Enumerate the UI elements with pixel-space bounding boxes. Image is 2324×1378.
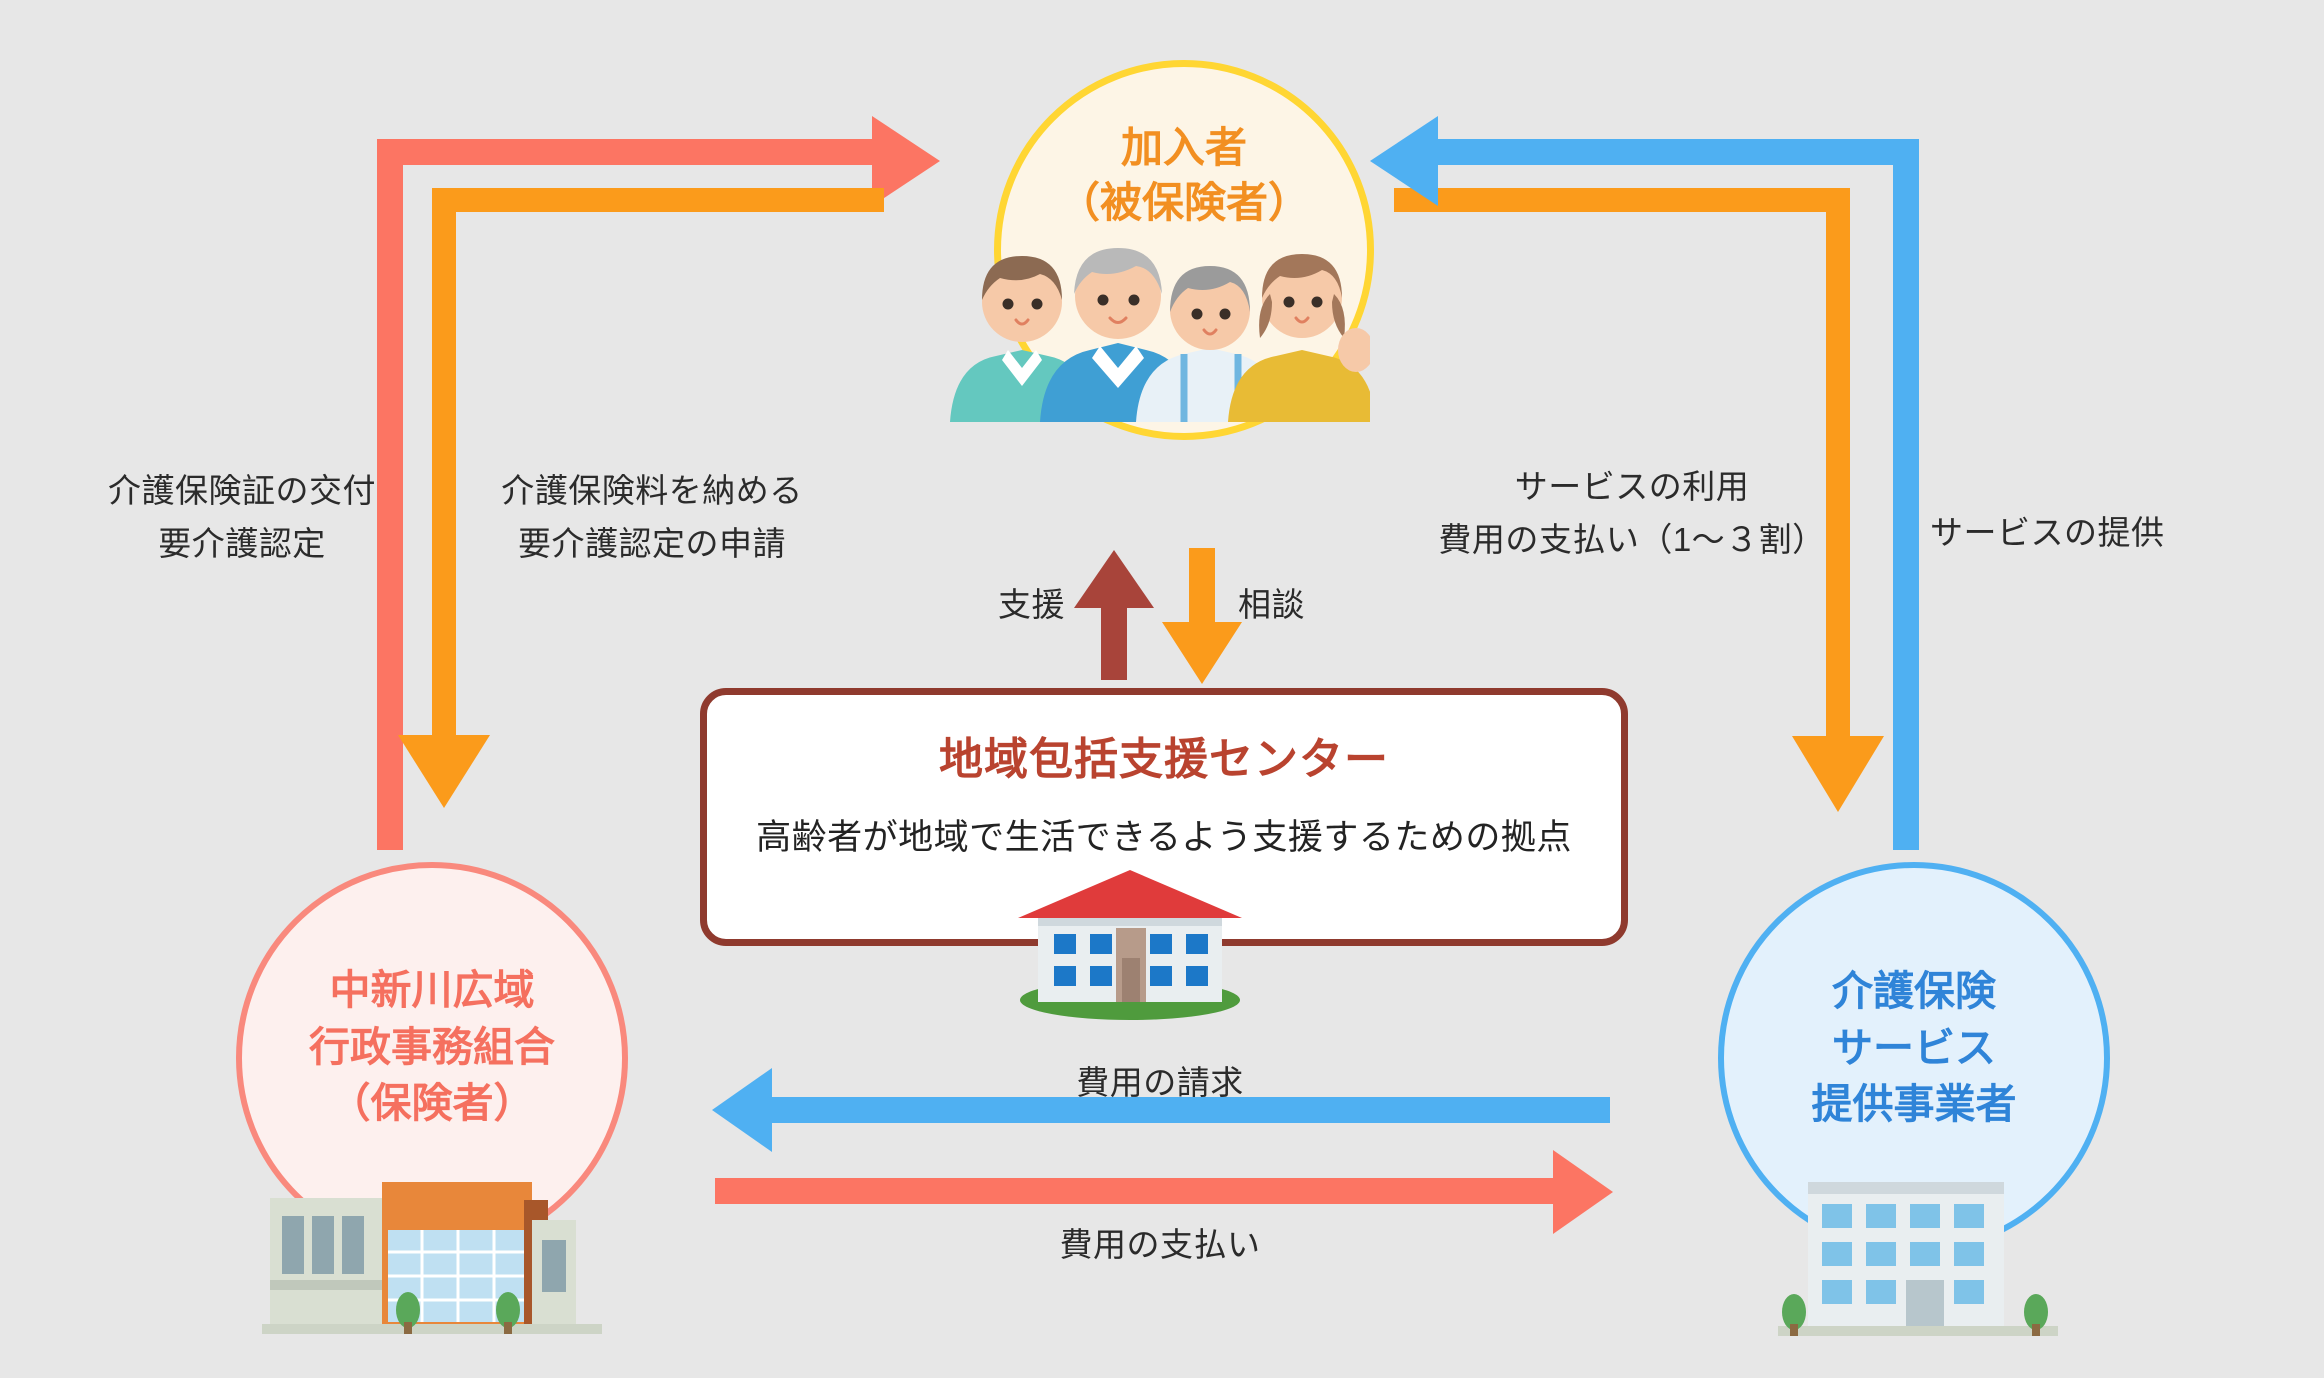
node-support-center-box[interactable]: 地域包括支援センター 高齢者が地域で生活できるよう支援するための拠点 (700, 688, 1628, 946)
label-service-use-line2: 費用の支払い（1〜３割） (1432, 513, 1832, 566)
label-cost-payment: 費用の支払い (960, 1218, 1360, 1271)
label-insurance-card-issue-line1: 介護保険証の交付 (62, 464, 422, 517)
diagram-canvas: 加入者 （被保険者） (0, 0, 2324, 1378)
node-provider-circle[interactable]: 介護保険 サービス 提供事業者 (1718, 862, 2110, 1254)
member-label-line1: 加入者 (1058, 120, 1310, 175)
label-service-provision: サービスの提供 (1930, 506, 2270, 559)
label-support: 支援 (998, 578, 1065, 631)
member-label-line2: （被保険者） (1058, 175, 1310, 230)
provider-label-line3: 提供事業者 (1812, 1076, 2017, 1133)
label-premium-payment-line2: 要介護認定の申請 (482, 517, 822, 570)
insurer-label-line1: 中新川広域 (309, 962, 555, 1019)
label-insurance-card-issue-line2: 要介護認定 (62, 517, 422, 570)
insurer-circle-label: 中新川広域 行政事務組合 （保険者） (309, 962, 555, 1132)
label-cost-claim: 費用の請求 (960, 1056, 1360, 1109)
insurer-label-line3: （保険者） (309, 1075, 555, 1132)
provider-label-line2: サービス (1812, 1020, 2017, 1077)
label-premium-payment: 介護保険料を納める 要介護認定の申請 (482, 464, 822, 571)
label-service-use: サービスの利用 費用の支払い（1〜３割） (1432, 460, 1832, 567)
member-circle-label: 加入者 （被保険者） (1058, 120, 1310, 231)
support-center-subtitle: 高齢者が地域で生活できるよう支援するための拠点 (707, 809, 1621, 860)
node-insurer-circle[interactable]: 中新川広域 行政事務組合 （保険者） (236, 862, 628, 1254)
label-premium-payment-line1: 介護保険料を納める (482, 464, 822, 517)
provider-circle-label: 介護保険 サービス 提供事業者 (1812, 963, 2017, 1133)
insurer-label-line2: 行政事務組合 (309, 1019, 555, 1076)
provider-label-line1: 介護保険 (1812, 963, 2017, 1020)
label-insurance-card-issue: 介護保険証の交付 要介護認定 (62, 464, 422, 571)
node-member-circle[interactable]: 加入者 （被保険者） (994, 60, 1374, 440)
label-service-use-line1: サービスの利用 (1432, 460, 1832, 513)
arrow-consult-down (1162, 548, 1242, 684)
label-consultation: 相談 (1238, 578, 1305, 631)
support-center-title: 地域包括支援センター (707, 723, 1621, 787)
arrow-support-up (1074, 550, 1154, 680)
